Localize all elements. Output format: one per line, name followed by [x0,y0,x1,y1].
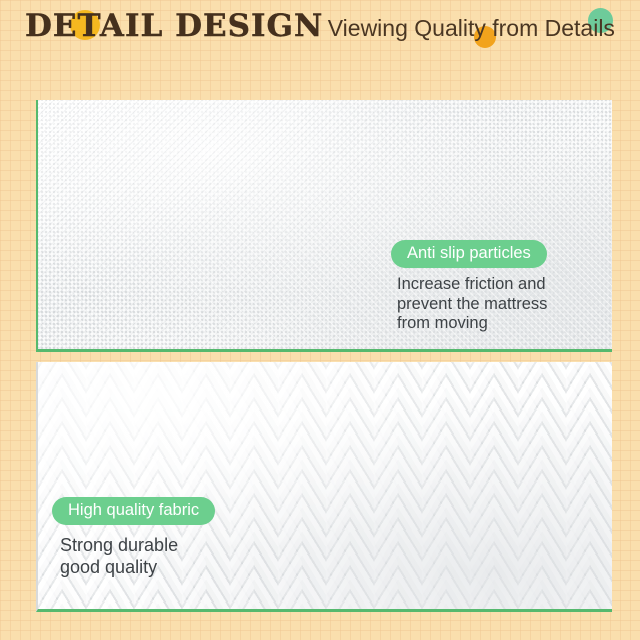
callout-anti-slip: Anti slip particles Increase friction an… [391,240,591,334]
page-subtitle-group: Viewing Quality from Details [328,14,615,42]
feature-description-anti-slip: Increase friction and prevent the mattre… [397,275,591,334]
feature-badge-high-quality-fabric: High quality fabric [52,497,215,525]
page-title-group: DETAIL DESIGN [25,9,323,43]
page-subtitle: Viewing Quality from Details [328,14,615,42]
feature-badge-anti-slip: Anti slip particles [391,240,547,268]
page-title: DETAIL DESIGN [25,9,323,43]
callout-high-quality-fabric: High quality fabric Strong durable good … [52,497,267,578]
detail-design-page: DETAIL DESIGN Viewing Quality from Detai… [0,0,640,640]
page-header: DETAIL DESIGN Viewing Quality from Detai… [0,0,640,92]
feature-description-high-quality-fabric: Strong durable good quality [60,534,267,578]
